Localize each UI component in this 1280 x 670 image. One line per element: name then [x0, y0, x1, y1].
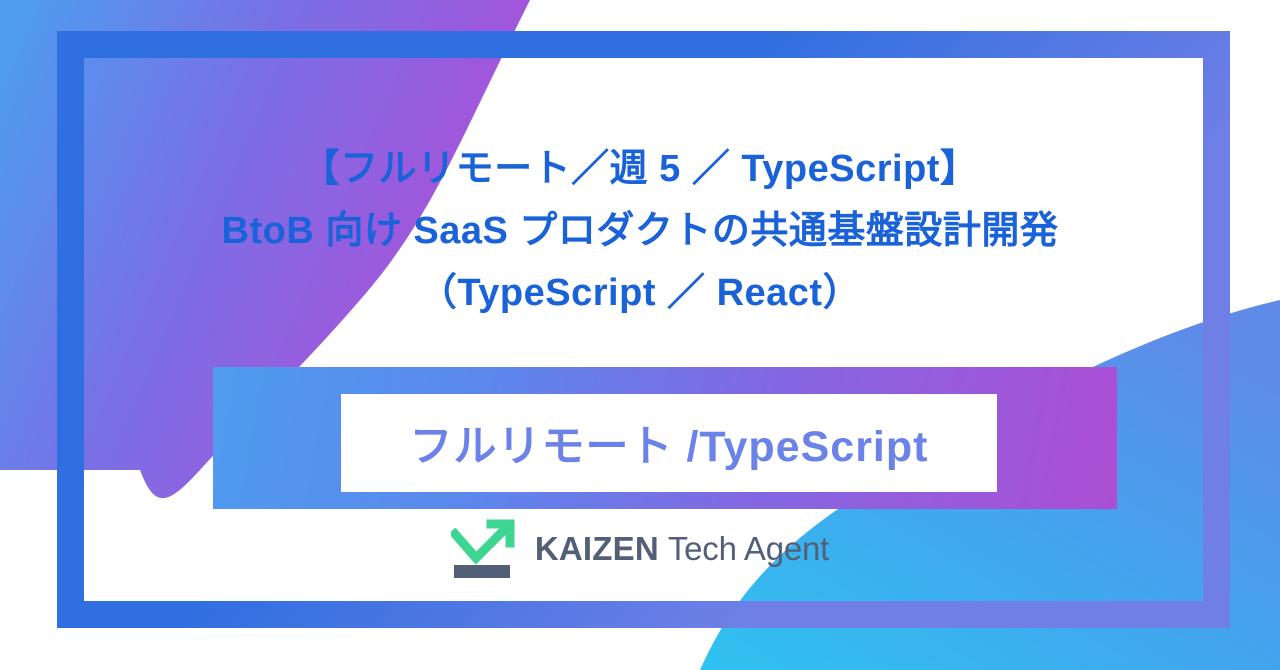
- title-line-3: （TypeScript ／ React）: [0, 274, 1280, 312]
- highlight-badge-inner: フルリモート /TypeScript: [341, 394, 997, 492]
- brand-logo: KAIZEN Tech Agent: [0, 518, 1280, 580]
- brand-logo-text: KAIZEN Tech Agent: [535, 530, 829, 568]
- banner-content: 【フルリモート／週 5 ／ TypeScript】 BtoB 向け SaaS プ…: [0, 0, 1280, 670]
- title-line-1: 【フルリモート／週 5 ／ TypeScript】: [0, 150, 1280, 188]
- title-line-2: BtoB 向け SaaS プロダクトの共通基盤設計開発: [0, 212, 1280, 250]
- status-badge: フルリモート /TypeScript: [410, 412, 929, 474]
- page-title: 【フルリモート／週 5 ／ TypeScript】 BtoB 向け SaaS プ…: [0, 150, 1280, 312]
- brand-name: KAIZEN: [535, 530, 659, 567]
- product-name: Tech Agent: [668, 530, 829, 567]
- growth-arrow-icon: [451, 518, 517, 580]
- job-posting-banner: 【フルリモート／週 5 ／ TypeScript】 BtoB 向け SaaS プ…: [0, 0, 1280, 670]
- highlight-badge: フルリモート /TypeScript: [213, 367, 1117, 509]
